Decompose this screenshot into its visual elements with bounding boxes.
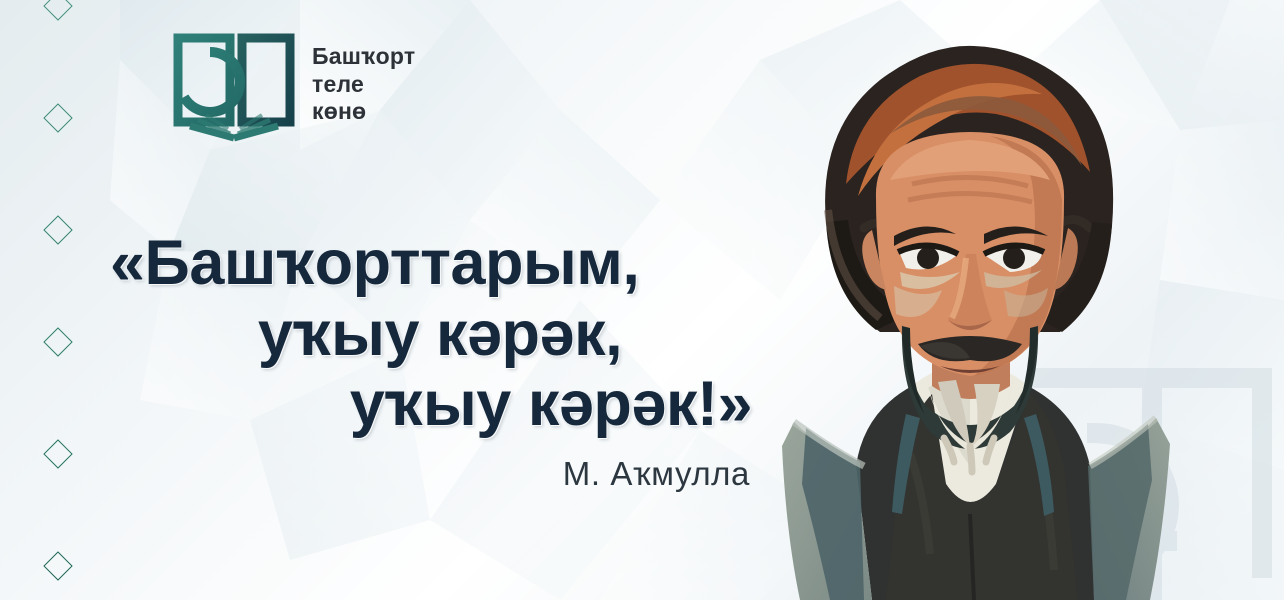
logo-word-line1: Башҡорт [312, 43, 415, 70]
quote-line-1: «Башҡорттарым, [110, 228, 770, 299]
open-book-a-letter-logo-icon [172, 26, 298, 142]
poster-canvas: Башҡорт теле көнө «Башҡорттарым, уҡыу кә… [0, 0, 1284, 600]
bashkir-language-day-logo: Башҡорт теле көнө [172, 26, 415, 142]
miftakhetdin-akmulla-portrait [760, 14, 1180, 600]
quote-line-2: уҡыу кәрәк, [110, 299, 770, 370]
quote-line-3: уҡыу кәрәк!» [110, 369, 770, 440]
quote-author: М. Аҡмулла [110, 455, 770, 493]
quote-text: «Башҡорттарым, уҡыу кәрәк, уҡыу кәрәк!» [110, 228, 770, 440]
logo-word-line2: теле [312, 71, 415, 98]
logo-word-line3: көнө [312, 98, 415, 125]
logo-wordmark: Башҡорт теле көнө [312, 43, 415, 126]
bashkir-diamond-ornament-band [8, 0, 108, 600]
